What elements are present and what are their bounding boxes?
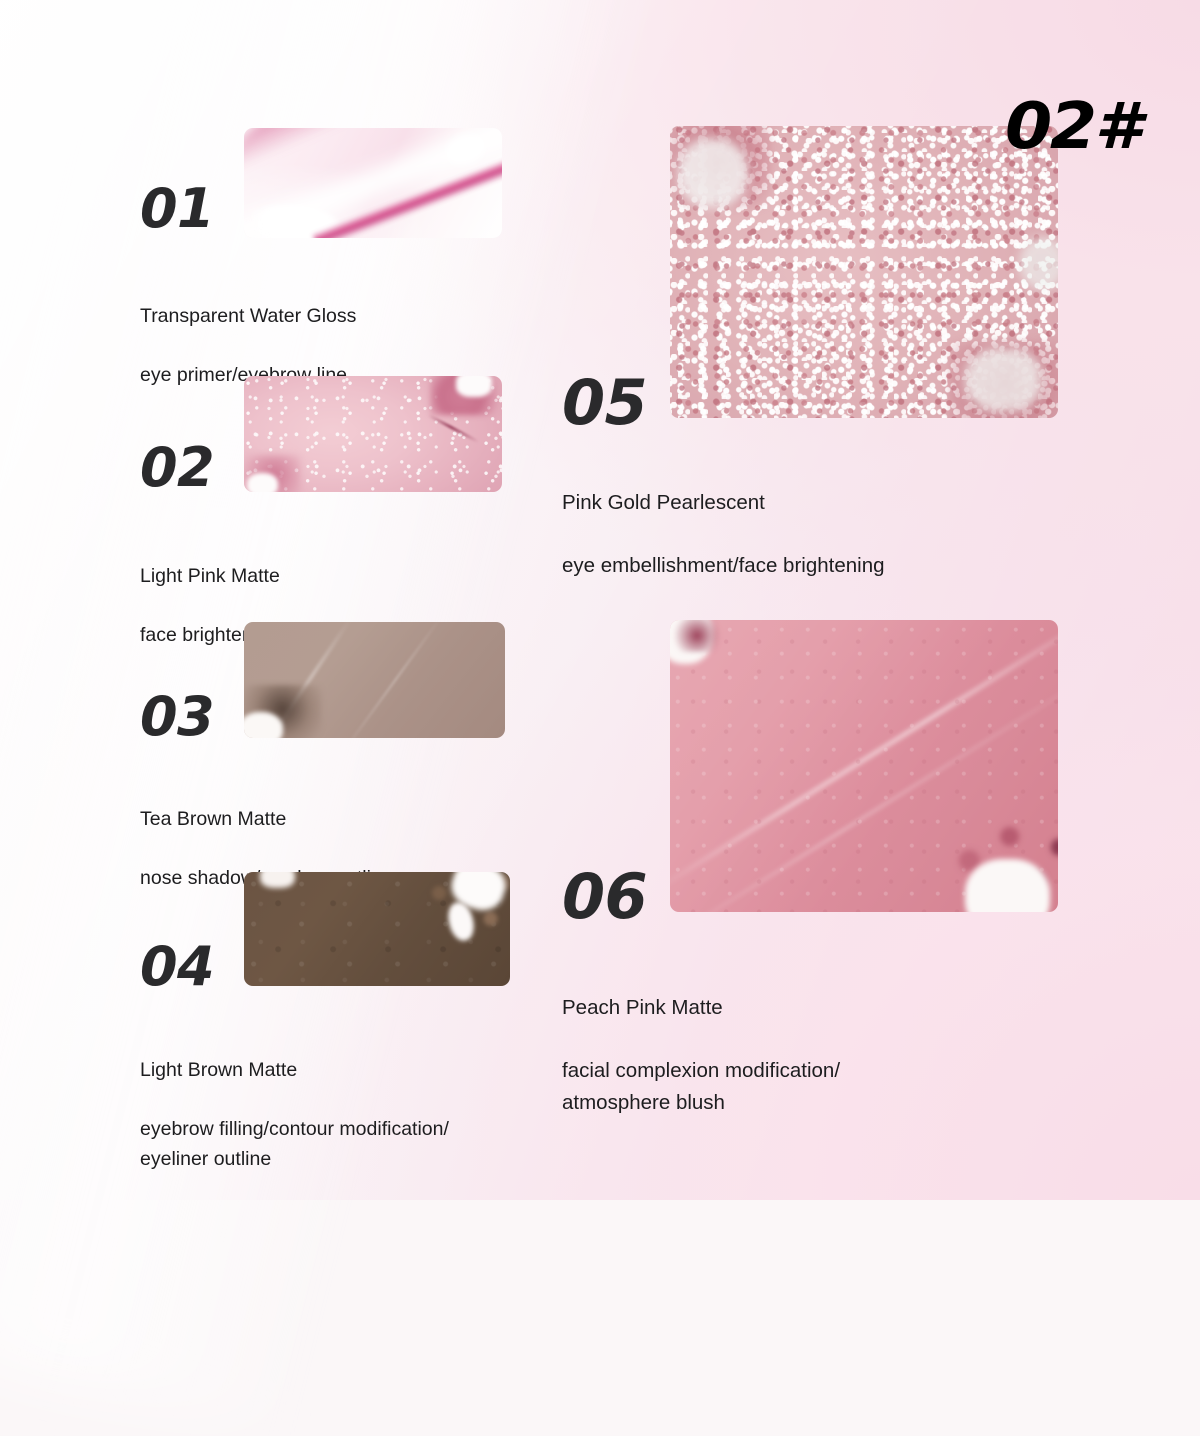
shade-caption-06: Peach Pink Matte facial complexion modif… xyxy=(562,960,1032,1151)
shade-usage-04: eyebrow filling/contour modification/ ey… xyxy=(140,1115,570,1174)
swatch-light-brown-matte xyxy=(244,872,510,986)
shade-number-06: 06 xyxy=(562,866,647,928)
swatch-tea-brown-matte xyxy=(244,622,505,738)
shade-number-03: 03 xyxy=(140,690,214,744)
shade-name-01: Transparent Water Gloss xyxy=(140,302,520,332)
swatch-light-pink-matte xyxy=(244,376,502,492)
shade-caption-05: Pink Gold Pearlescent eye embellishment/… xyxy=(562,455,1032,614)
swatch-transparent-water-gloss xyxy=(244,128,502,238)
shade-number-04: 04 xyxy=(140,940,214,994)
shade-name-04: Light Brown Matte xyxy=(140,1056,570,1086)
shade-number-01: 01 xyxy=(140,182,214,236)
shade-usage-06: facial complexion modification/ atmosphe… xyxy=(562,1055,1032,1119)
shade-caption-04: Light Brown Matte eyebrow filling/contou… xyxy=(140,1026,570,1204)
shade-name-06: Peach Pink Matte xyxy=(562,992,1032,1024)
shade-name-02: Light Pink Matte xyxy=(140,562,520,592)
palette-number-badge: 02# xyxy=(1005,95,1139,159)
infographic-canvas: 01 Transparent Water Gloss eye primer/ey… xyxy=(0,0,1200,1200)
shade-name-05: Pink Gold Pearlescent xyxy=(562,487,1032,519)
shade-number-05: 05 xyxy=(562,372,647,434)
swatch-pink-gold-pearlescent xyxy=(670,126,1058,418)
swatch-peach-pink-matte xyxy=(670,620,1058,912)
shade-number-02: 02 xyxy=(140,441,214,495)
shade-usage-05: eye embellishment/face brightening xyxy=(562,550,1032,582)
shade-name-03: Tea Brown Matte xyxy=(140,805,540,835)
